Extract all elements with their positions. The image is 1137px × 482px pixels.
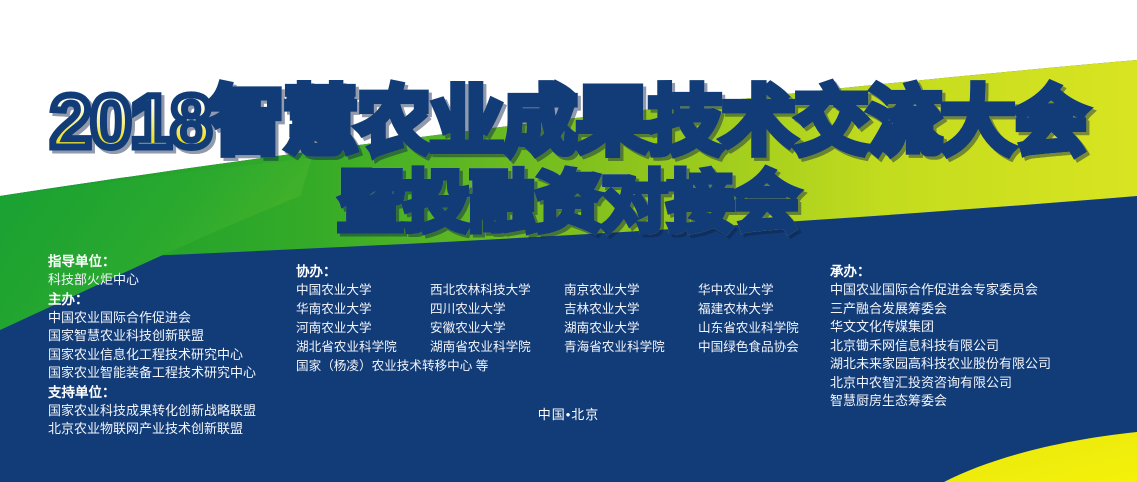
organizers-heading: 主办： [48,290,298,309]
host-item: 中国农业国际合作促进会专家委员会 [830,281,1130,300]
coorganizer-item: 安徽农业大学 [430,319,564,338]
coorganizer-item: 华南农业大学 [296,300,430,319]
coorganizers-heading: 协办： [296,262,816,281]
venue-label: 中国•北京 [0,404,1137,423]
guidance-heading: 指导单位： [48,252,298,271]
guidance-item: 科技部火炬中心 [48,271,298,290]
host-item: 华文文化传媒集团 [830,318,1130,337]
coorganizer-item: 山东省农业科学院 [698,319,816,338]
supporters-heading: 支持单位： [48,383,298,402]
conference-banner: 2018智慧农业成果技术交流大会 暨投融资对接会 指导单位： 科技部火炬中心 主… [0,0,1137,482]
coorganizer-last-line: 国家（杨凌）农业技术转移中心 等 [296,357,698,376]
organizer-item: 中国农业国际合作促进会 [48,309,298,328]
coorganizer-item: 河南农业大学 [296,319,430,338]
host-item: 三产融合发展筹委会 [830,300,1130,319]
coorganizer-item: 吉林农业大学 [564,300,698,319]
coorganizer-item: 西北农林科技大学 [430,281,564,300]
coorganizers-column: 协办： 中国农业大学 西北农林科技大学 南京农业大学 华中农业大学 华南农业大学… [296,262,816,376]
host-item: 北京锄禾网信息科技有限公司 [830,337,1130,356]
coorganizer-item: 湖北省农业科学院 [296,338,430,357]
organizer-item: 国家智慧农业科技创新联盟 [48,327,298,346]
coorganizer-item: 福建农林大学 [698,300,816,319]
coorganizer-item: 南京农业大学 [564,281,698,300]
coorganizer-item: 青海省农业科学院 [564,338,698,357]
hosts-heading: 承办： [830,262,1130,281]
host-item: 湖北未来家园高科技农业股份有限公司 [830,355,1130,374]
coorganizer-item: 湖南省农业科学院 [430,338,564,357]
organizer-item: 国家农业智能装备工程技术研究中心 [48,364,298,383]
host-item: 北京中农智汇投资咨询有限公司 [830,374,1130,393]
coorganizer-item: 湖南农业大学 [564,319,698,338]
organizer-item: 国家农业信息化工程技术研究中心 [48,346,298,365]
coorganizers-grid: 中国农业大学 西北农林科技大学 南京农业大学 华中农业大学 华南农业大学 四川农… [296,281,816,376]
coorganizer-item: 四川农业大学 [430,300,564,319]
coorganizer-item: 中国绿色食品协会 [698,338,816,357]
coorganizer-item: 华中农业大学 [698,281,816,300]
coorganizer-item: 中国农业大学 [296,281,430,300]
hosts-column: 承办： 中国农业国际合作促进会专家委员会 三产融合发展筹委会 华文文化传媒集团 … [830,262,1130,411]
